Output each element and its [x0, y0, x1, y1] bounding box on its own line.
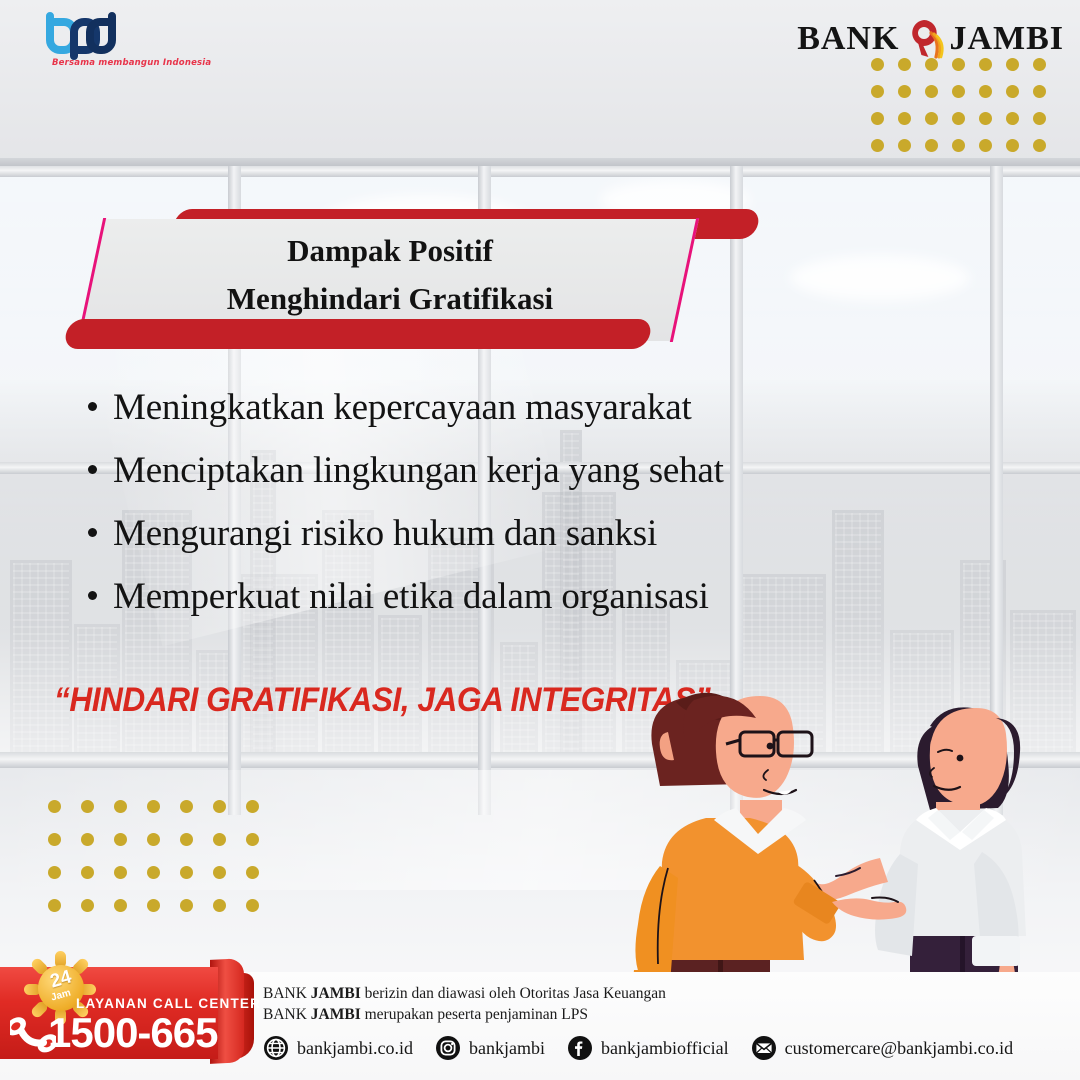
- gold-dot-grid-top: [871, 58, 1060, 166]
- poster-canvas: Bersama membangun Indonesia BANK JAMBI D…: [0, 0, 1080, 1080]
- facebook-icon: [567, 1035, 593, 1061]
- jambi-word: JAMBI: [949, 20, 1064, 58]
- regulatory-disclaimer: BANK JAMBI berizin dan diawasi oleh Otor…: [263, 983, 666, 1025]
- list-item: Mengurangi risiko hukum dan sanksi: [88, 508, 988, 559]
- disclaimer-jambi-word: JAMBI: [311, 1006, 361, 1023]
- gold-dot-grid-left: [48, 800, 279, 932]
- bpd-tagline: Bersama membangun Indonesia: [52, 58, 211, 68]
- bullet-point-icon: [88, 591, 97, 600]
- social-label: bankjambi.co.id: [297, 1038, 413, 1059]
- title-banner: Dampak Positif Menghindari Gratifikasi: [62, 205, 712, 355]
- list-item: Menciptakan lingkungan kerja yang sehat: [88, 445, 988, 496]
- bank-jambi-logo: BANK JAMBI: [797, 18, 1064, 60]
- disclaimer-jambi-word: JAMBI: [311, 985, 361, 1002]
- disclaimer-line-1: BANK JAMBI berizin dan diawasi oleh Otor…: [263, 983, 666, 1004]
- banner-bar-bottom: [63, 319, 653, 349]
- list-item-label: Memperkuat nilai etika dalam organisasi: [113, 571, 709, 622]
- list-item: Memperkuat nilai etika dalam organisasi: [88, 571, 988, 622]
- banner-title-line1: Dampak Positif: [90, 227, 690, 275]
- call-center-number[interactable]: 1500-665: [48, 1009, 218, 1057]
- window-mullion-horizontal: [0, 165, 1080, 177]
- disclaimer-text: merupakan peserta penjaminan LPS: [361, 1006, 588, 1023]
- disclaimer-text: berizin dan diawasi oleh Otoritas Jasa K…: [361, 985, 666, 1002]
- list-item: Meningkatkan kepercayaan masyarakat: [88, 382, 988, 433]
- list-item-label: Mengurangi risiko hukum dan sanksi: [113, 508, 657, 559]
- disclaimer-bank-word: BANK: [263, 985, 311, 1002]
- envelope-icon: [751, 1035, 777, 1061]
- globe-icon: [263, 1035, 289, 1061]
- bank-jambi-swirl-mark: [901, 17, 947, 61]
- social-label: customercare@bankjambi.co.id: [785, 1038, 1014, 1059]
- bullet-point-icon: [88, 528, 97, 537]
- banner-title-line2: Menghindari Gratifikasi: [90, 275, 690, 323]
- bullet-point-icon: [88, 402, 97, 411]
- bpd-logo-mark: [36, 12, 166, 62]
- instagram-icon: [435, 1035, 461, 1061]
- disclaimer-line-2: BANK JAMBI merupakan peserta penjaminan …: [263, 1004, 666, 1025]
- social-link-email[interactable]: customercare@bankjambi.co.id: [751, 1035, 1014, 1061]
- bank-word: BANK: [797, 20, 899, 58]
- list-item-label: Menciptakan lingkungan kerja yang sehat: [113, 445, 724, 496]
- disclaimer-bank-word: BANK: [263, 1006, 311, 1023]
- social-link-website[interactable]: bankjambi.co.id: [263, 1035, 413, 1061]
- social-links-row: bankjambi.co.id bankjambi bankjambio: [263, 1035, 1035, 1061]
- call-center-ribbon: 24 Jam LAYANAN CALL CENTER 1500-665: [0, 957, 268, 1067]
- social-link-instagram[interactable]: bankjambi: [435, 1035, 545, 1061]
- social-label: bankjambiofficial: [601, 1038, 729, 1059]
- benefits-list: Meningkatkan kepercayaan masyarakat Menc…: [88, 382, 988, 634]
- bullet-point-icon: [88, 465, 97, 474]
- social-label: bankjambi: [469, 1038, 545, 1059]
- banner-title: Dampak Positif Menghindari Gratifikasi: [90, 227, 690, 323]
- list-item-label: Meningkatkan kepercayaan masyarakat: [113, 382, 692, 433]
- bpd-logo: Bersama membangun Indonesia: [36, 12, 166, 74]
- social-link-facebook[interactable]: bankjambiofficial: [567, 1035, 729, 1061]
